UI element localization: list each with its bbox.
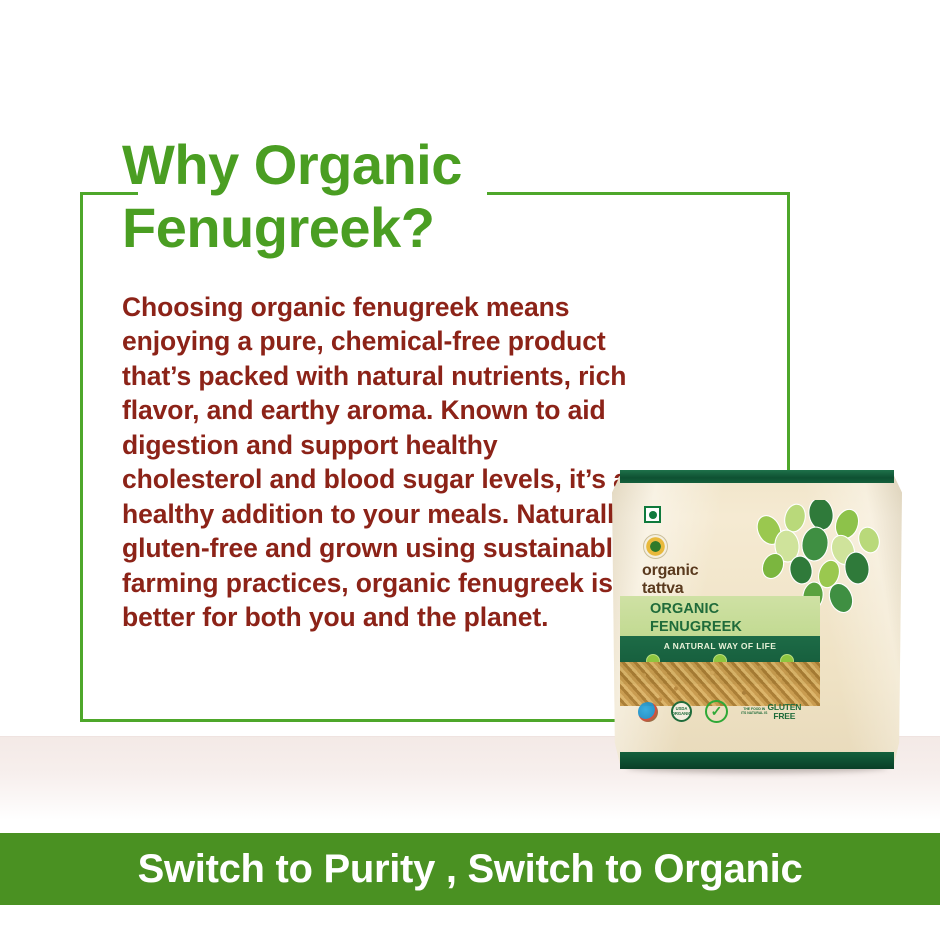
promo-canvas: Why Organic Fenugreek? Choosing organic … bbox=[0, 0, 940, 940]
packet-bottom-seal bbox=[620, 752, 894, 769]
product-packet: organic tattva bbox=[612, 462, 902, 775]
cert-green-check-icon: ✓ bbox=[705, 700, 728, 723]
vegetarian-mark-icon bbox=[644, 506, 661, 523]
page-title: Why Organic Fenugreek? bbox=[122, 134, 642, 259]
banner-text: Switch to Purity , Switch to Organic bbox=[138, 847, 803, 892]
brand-name: organic tattva bbox=[642, 562, 762, 598]
cert-usda-organic-icon: USDA ORGANIC bbox=[671, 701, 692, 722]
cert-usda-label: USDA ORGANIC bbox=[671, 701, 692, 722]
product-tagline: A NATURAL WAY OF LIFE bbox=[620, 641, 820, 651]
cert-gluten-subtext: THE FOOD IN ITS NATURAL IS bbox=[741, 708, 767, 715]
cert-check-glyph: ✓ bbox=[705, 700, 728, 723]
packet-top-seal bbox=[620, 470, 894, 483]
cert-gluten-free-icon: THE FOOD IN ITS NATURAL IS GLUTEN FREE bbox=[741, 703, 801, 721]
certification-row: USDA ORGANIC ✓ THE FOOD IN ITS NATURAL I… bbox=[638, 700, 853, 723]
body-paragraph: Choosing organic fenugreek means enjoyin… bbox=[122, 290, 634, 634]
cert-gluten-label: GLUTEN FREE bbox=[767, 703, 801, 721]
bottom-banner: Switch to Purity , Switch to Organic bbox=[0, 833, 940, 905]
cert-india-organic-icon bbox=[638, 702, 658, 722]
product-name: ORGANIC FENUGREEK bbox=[650, 601, 820, 636]
brand-emblem-icon bbox=[643, 534, 668, 559]
